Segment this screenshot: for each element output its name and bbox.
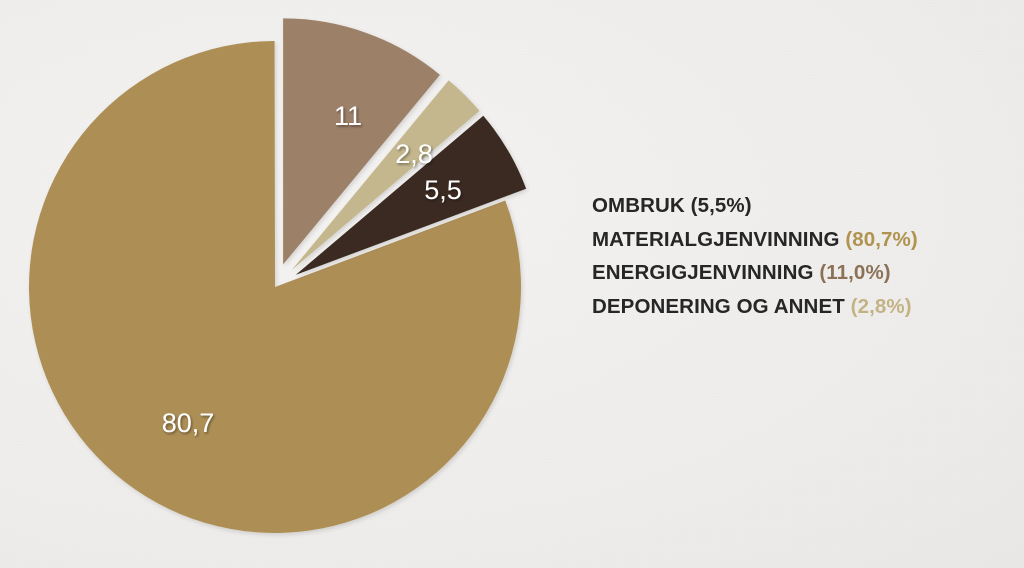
- legend-item-deponering-og-annet[interactable]: DEPONERING OG ANNET (2,8%): [592, 297, 1002, 318]
- chart-canvas: 80,7112,85,5 OMBRUK (5,5%) MATERIALGJENV…: [0, 0, 1024, 568]
- legend-percent-materialgjenvinning: (80,7%): [845, 228, 917, 251]
- legend-label-energigjenvinning: ENERGIGJENVINNING: [592, 261, 814, 284]
- pie-slice-value-ombruk: 5,5: [424, 175, 462, 205]
- legend-item-ombruk[interactable]: OMBRUK (5,5%): [592, 196, 1002, 217]
- pie-slice-value-energigjenvinning: 11: [334, 101, 362, 131]
- pie-slice-value-deponering-og-annet: 2,8: [395, 139, 433, 169]
- pie-slice-value-materialgjenvinning: 80,7: [162, 408, 215, 438]
- legend-label-materialgjenvinning: MATERIALGJENVINNING: [592, 228, 840, 251]
- legend-percent-ombruk: (5,5%): [691, 194, 752, 217]
- chart-legend: OMBRUK (5,5%) MATERIALGJENVINNING (80,7%…: [592, 196, 1002, 330]
- legend-item-materialgjenvinning[interactable]: MATERIALGJENVINNING (80,7%): [592, 230, 1002, 251]
- legend-item-energigjenvinning[interactable]: ENERGIGJENVINNING (11,0%): [592, 263, 1002, 284]
- legend-percent-deponering-og-annet: (2,8%): [851, 295, 912, 318]
- pie-slices-group: [29, 18, 526, 533]
- legend-label-deponering-og-annet: DEPONERING OG ANNET: [592, 295, 845, 318]
- legend-percent-energigjenvinning: (11,0%): [819, 261, 890, 284]
- legend-label-ombruk: OMBRUK: [592, 194, 685, 217]
